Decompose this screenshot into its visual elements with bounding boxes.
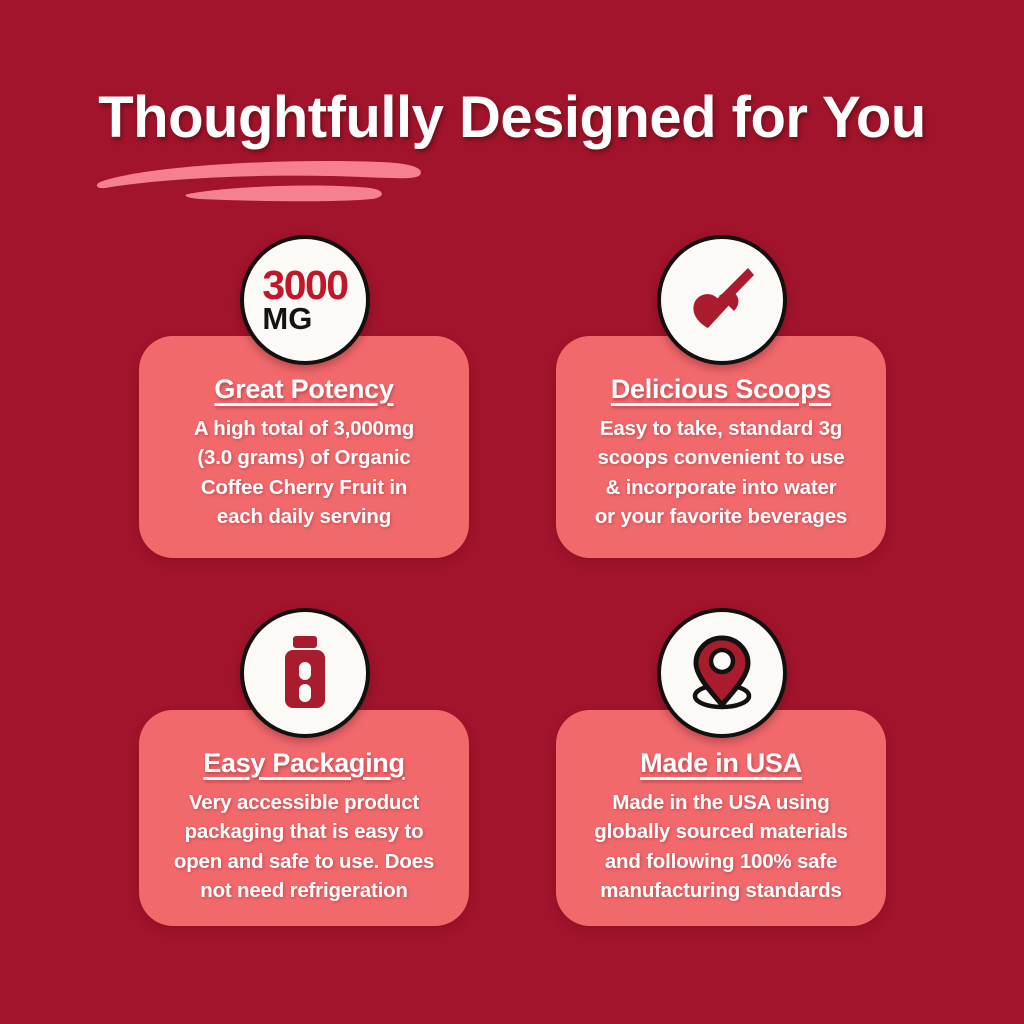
card-body: Made in the USA using globally sourced m…	[570, 788, 872, 905]
card-body-line: packaging that is easy to	[153, 817, 455, 846]
mg-badge-number: 3000	[262, 267, 347, 305]
card-heading: Delicious Scoops	[570, 374, 872, 405]
feature-card-delicious-scoops[interactable]: Delicious Scoops Easy to take, standard …	[556, 336, 886, 558]
supplement-bottle-badge	[240, 608, 370, 738]
card-heading: Made in USA	[570, 748, 872, 779]
mg-badge-text: 3000 MG	[262, 267, 347, 333]
scoop-badge	[657, 235, 787, 365]
card-body-line: globally sourced materials	[570, 817, 872, 846]
mg-badge-unit: MG	[262, 305, 347, 334]
supplement-bottle-icon	[265, 632, 345, 714]
card-body: Very accessible product packaging that i…	[153, 788, 455, 905]
feature-card-great-potency[interactable]: Great Potency A high total of 3,000mg (3…	[139, 336, 469, 558]
card-heading: Great Potency	[153, 374, 455, 405]
card-body-line: each daily serving	[153, 502, 455, 531]
made-in-usa-badge	[657, 608, 787, 738]
card-body: A high total of 3,000mg (3.0 grams) of O…	[153, 414, 455, 531]
card-body-line: manufacturing standards	[570, 876, 872, 905]
mg-amount-badge: 3000 MG	[240, 235, 370, 365]
card-body-line: Coffee Cherry Fruit in	[153, 473, 455, 502]
card-body-line: scoops convenient to use	[570, 443, 872, 472]
map-pin-icon	[679, 632, 765, 714]
card-body-line: A high total of 3,000mg	[153, 414, 455, 443]
card-body-line: not need refrigeration	[153, 876, 455, 905]
card-body-line: & incorporate into water	[570, 473, 872, 502]
card-body-line: open and safe to use. Does	[153, 847, 455, 876]
card-body-line: Very accessible product	[153, 788, 455, 817]
card-body-line: and following 100% safe	[570, 847, 872, 876]
scoop-icon	[680, 258, 764, 342]
card-heading: Easy Packaging	[153, 748, 455, 779]
card-body-line: Easy to take, standard 3g	[570, 414, 872, 443]
card-body-line: Made in the USA using	[570, 788, 872, 817]
feature-card-easy-packaging[interactable]: Easy Packaging Very accessible product p…	[139, 710, 469, 926]
card-body: Easy to take, standard 3g scoops conveni…	[570, 414, 872, 531]
feature-cards-grid: Great Potency A high total of 3,000mg (3…	[0, 0, 1024, 1024]
card-body-line: or your favorite beverages	[570, 502, 872, 531]
card-body-line: (3.0 grams) of Organic	[153, 443, 455, 472]
infographic-page: Thoughtfully Designed for You Great Pote…	[0, 0, 1024, 1024]
feature-card-made-in-usa[interactable]: Made in USA Made in the USA using global…	[556, 710, 886, 926]
